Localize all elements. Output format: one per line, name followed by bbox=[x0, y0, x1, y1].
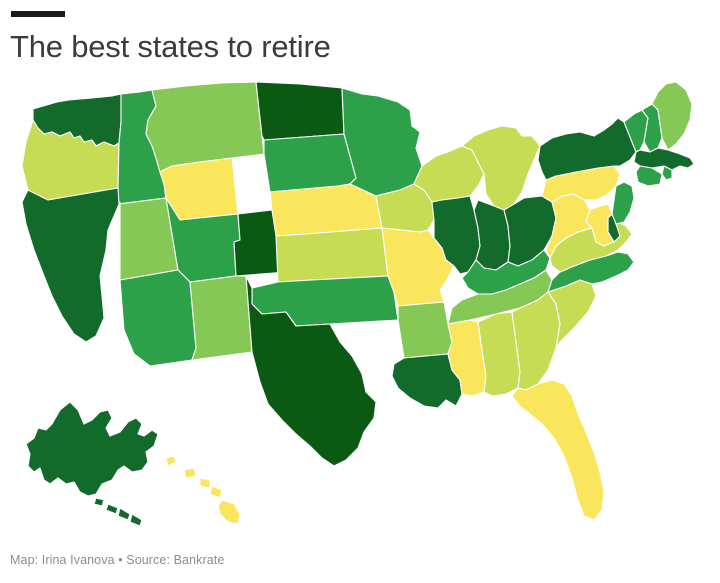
state-shapes-group bbox=[22, 82, 694, 526]
state-FL[interactable] bbox=[512, 380, 604, 520]
page-title: The best states to retire bbox=[10, 27, 331, 67]
state-AK-aleutians bbox=[94, 498, 142, 526]
state-NE[interactable] bbox=[270, 184, 382, 236]
state-KS[interactable] bbox=[276, 228, 388, 282]
state-AZ[interactable] bbox=[120, 270, 196, 366]
state-NJ[interactable] bbox=[612, 182, 634, 224]
state-SD[interactable] bbox=[264, 134, 356, 192]
state-MN[interactable] bbox=[342, 88, 422, 196]
state-AR[interactable] bbox=[398, 302, 452, 358]
state-AK[interactable] bbox=[26, 402, 158, 496]
source-credit: Map: Irina Ivanova • Source: Bankrate bbox=[10, 553, 224, 567]
map-svg bbox=[0, 80, 720, 540]
state-CT[interactable] bbox=[636, 166, 662, 186]
state-NM[interactable] bbox=[190, 276, 252, 360]
state-HI[interactable] bbox=[166, 456, 240, 524]
state-CA[interactable] bbox=[22, 188, 120, 342]
us-choropleth-map bbox=[0, 80, 720, 540]
state-MT[interactable] bbox=[146, 82, 264, 172]
title-accent-rule bbox=[11, 11, 65, 17]
state-ND[interactable] bbox=[256, 82, 344, 140]
infographic-canvas: The best states to retire bbox=[0, 0, 720, 583]
